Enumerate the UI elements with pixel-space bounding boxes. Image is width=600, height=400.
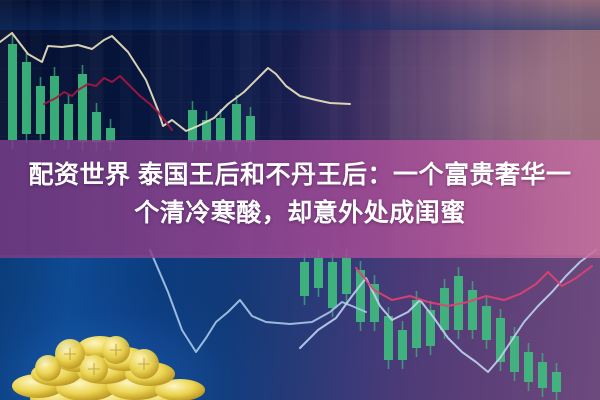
page-title: 配资世界 泰国王后和不丹王后：一个富贵奢华一个清冷寒酸，却意外处成闺蜜 (0, 156, 600, 232)
gold-coins-icon (8, 314, 223, 400)
article-banner: 配资世界 泰国王后和不丹王后：一个富贵奢华一个清冷寒酸，却意外处成闺蜜 (0, 0, 600, 400)
